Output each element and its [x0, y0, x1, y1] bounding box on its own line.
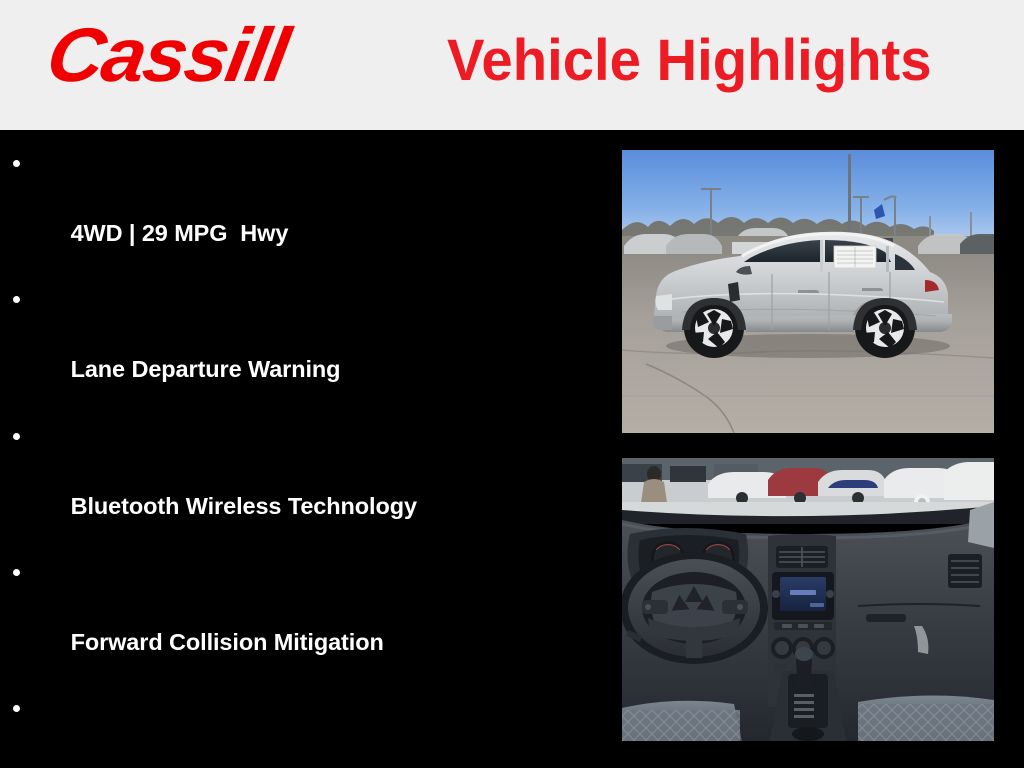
list-item-label: Lane Departure Warning: [71, 356, 341, 382]
list-item-label: 4WD | 29 MPG Hwy: [71, 220, 289, 246]
list-item: Forward Collision Mitigation: [10, 557, 610, 693]
list-item: Steering wheel mounted audio controls: [10, 693, 610, 768]
bullet-dot-icon: [13, 569, 20, 576]
bullet-dot-icon: [13, 705, 20, 712]
list-item: Bluetooth Wireless Technology: [10, 421, 610, 557]
page-title: Vehicle Highlights: [447, 27, 932, 95]
list-item: 4WD | 29 MPG Hwy: [10, 148, 610, 284]
content-stage: 4WD | 29 MPG Hwy Lane Departure Warning …: [0, 130, 1024, 768]
vehicle-exterior-photo: [622, 150, 994, 433]
cassill-logo: Cassill: [42, 18, 293, 94]
bullet-dot-icon: [13, 296, 20, 303]
vehicle-highlights-list: 4WD | 29 MPG Hwy Lane Departure Warning …: [10, 148, 610, 768]
vehicle-interior-photo: [622, 458, 994, 741]
list-item: Lane Departure Warning: [10, 284, 610, 420]
list-item-label: Forward Collision Mitigation: [71, 629, 384, 655]
page-header: Cassill Vehicle Highlights: [0, 0, 1024, 130]
interior-photo-graphic: [622, 458, 994, 741]
list-item-label: Bluetooth Wireless Technology: [71, 493, 417, 519]
bullet-dot-icon: [13, 433, 20, 440]
exterior-photo-graphic: [622, 150, 994, 433]
bullet-dot-icon: [13, 160, 20, 167]
